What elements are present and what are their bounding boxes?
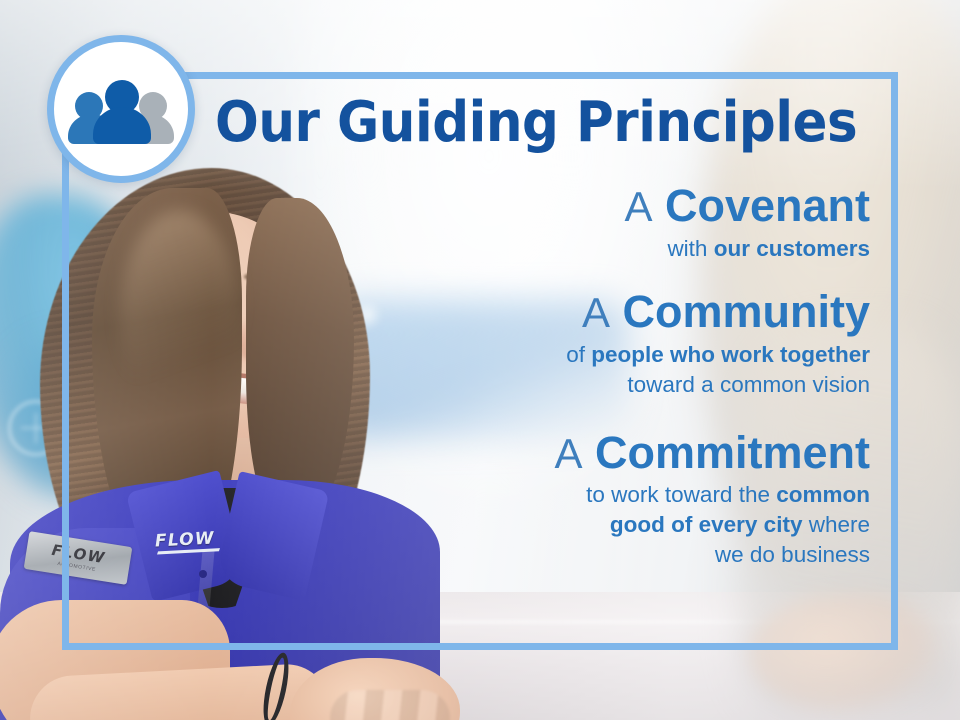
principles-list: A Covenant with our customers A Communit… (300, 183, 870, 570)
guiding-principles-graphic: FLOW AUTOMOTIVE FLOW Our Guiding (0, 0, 960, 720)
people-group-icon (73, 78, 169, 140)
principle-item-covenant: A Covenant with our customers (300, 183, 870, 263)
principle-heading: A Covenant (300, 183, 870, 230)
subtext-run: of (566, 342, 591, 367)
principle-heading: A Commitment (300, 430, 870, 477)
people-group-badge (47, 35, 195, 183)
principle-keyword: Covenant (665, 180, 870, 231)
principle-keyword: Commitment (595, 427, 870, 478)
subtext-emphasis: people who work together (591, 342, 870, 367)
page-title: Our Guiding Principles (215, 95, 822, 151)
subtext-emphasis: good of every city (610, 512, 803, 537)
subtext-run: with (667, 236, 713, 261)
principle-article: A (554, 430, 582, 477)
principle-article: A (582, 289, 610, 336)
subtext-run: to work toward the (586, 482, 776, 507)
principle-item-commitment: A Commitment to work toward the commongo… (300, 430, 870, 570)
principle-keyword: Community (623, 286, 871, 337)
principle-subtext: of people who work togethertoward a comm… (300, 340, 870, 399)
principle-subtext: to work toward the commongood of every c… (300, 480, 870, 569)
subtext-emphasis: our customers (714, 236, 870, 261)
subtext-run: toward a common vision (627, 372, 870, 397)
subtext-run: where (802, 512, 870, 537)
principle-item-community: A Community of people who work togethert… (300, 289, 870, 399)
principle-article: A (624, 183, 652, 230)
subtext-emphasis: common (776, 482, 870, 507)
principle-heading: A Community (300, 289, 870, 336)
principle-subtext: with our customers (300, 234, 870, 264)
subtext-run: we do business (715, 542, 870, 567)
